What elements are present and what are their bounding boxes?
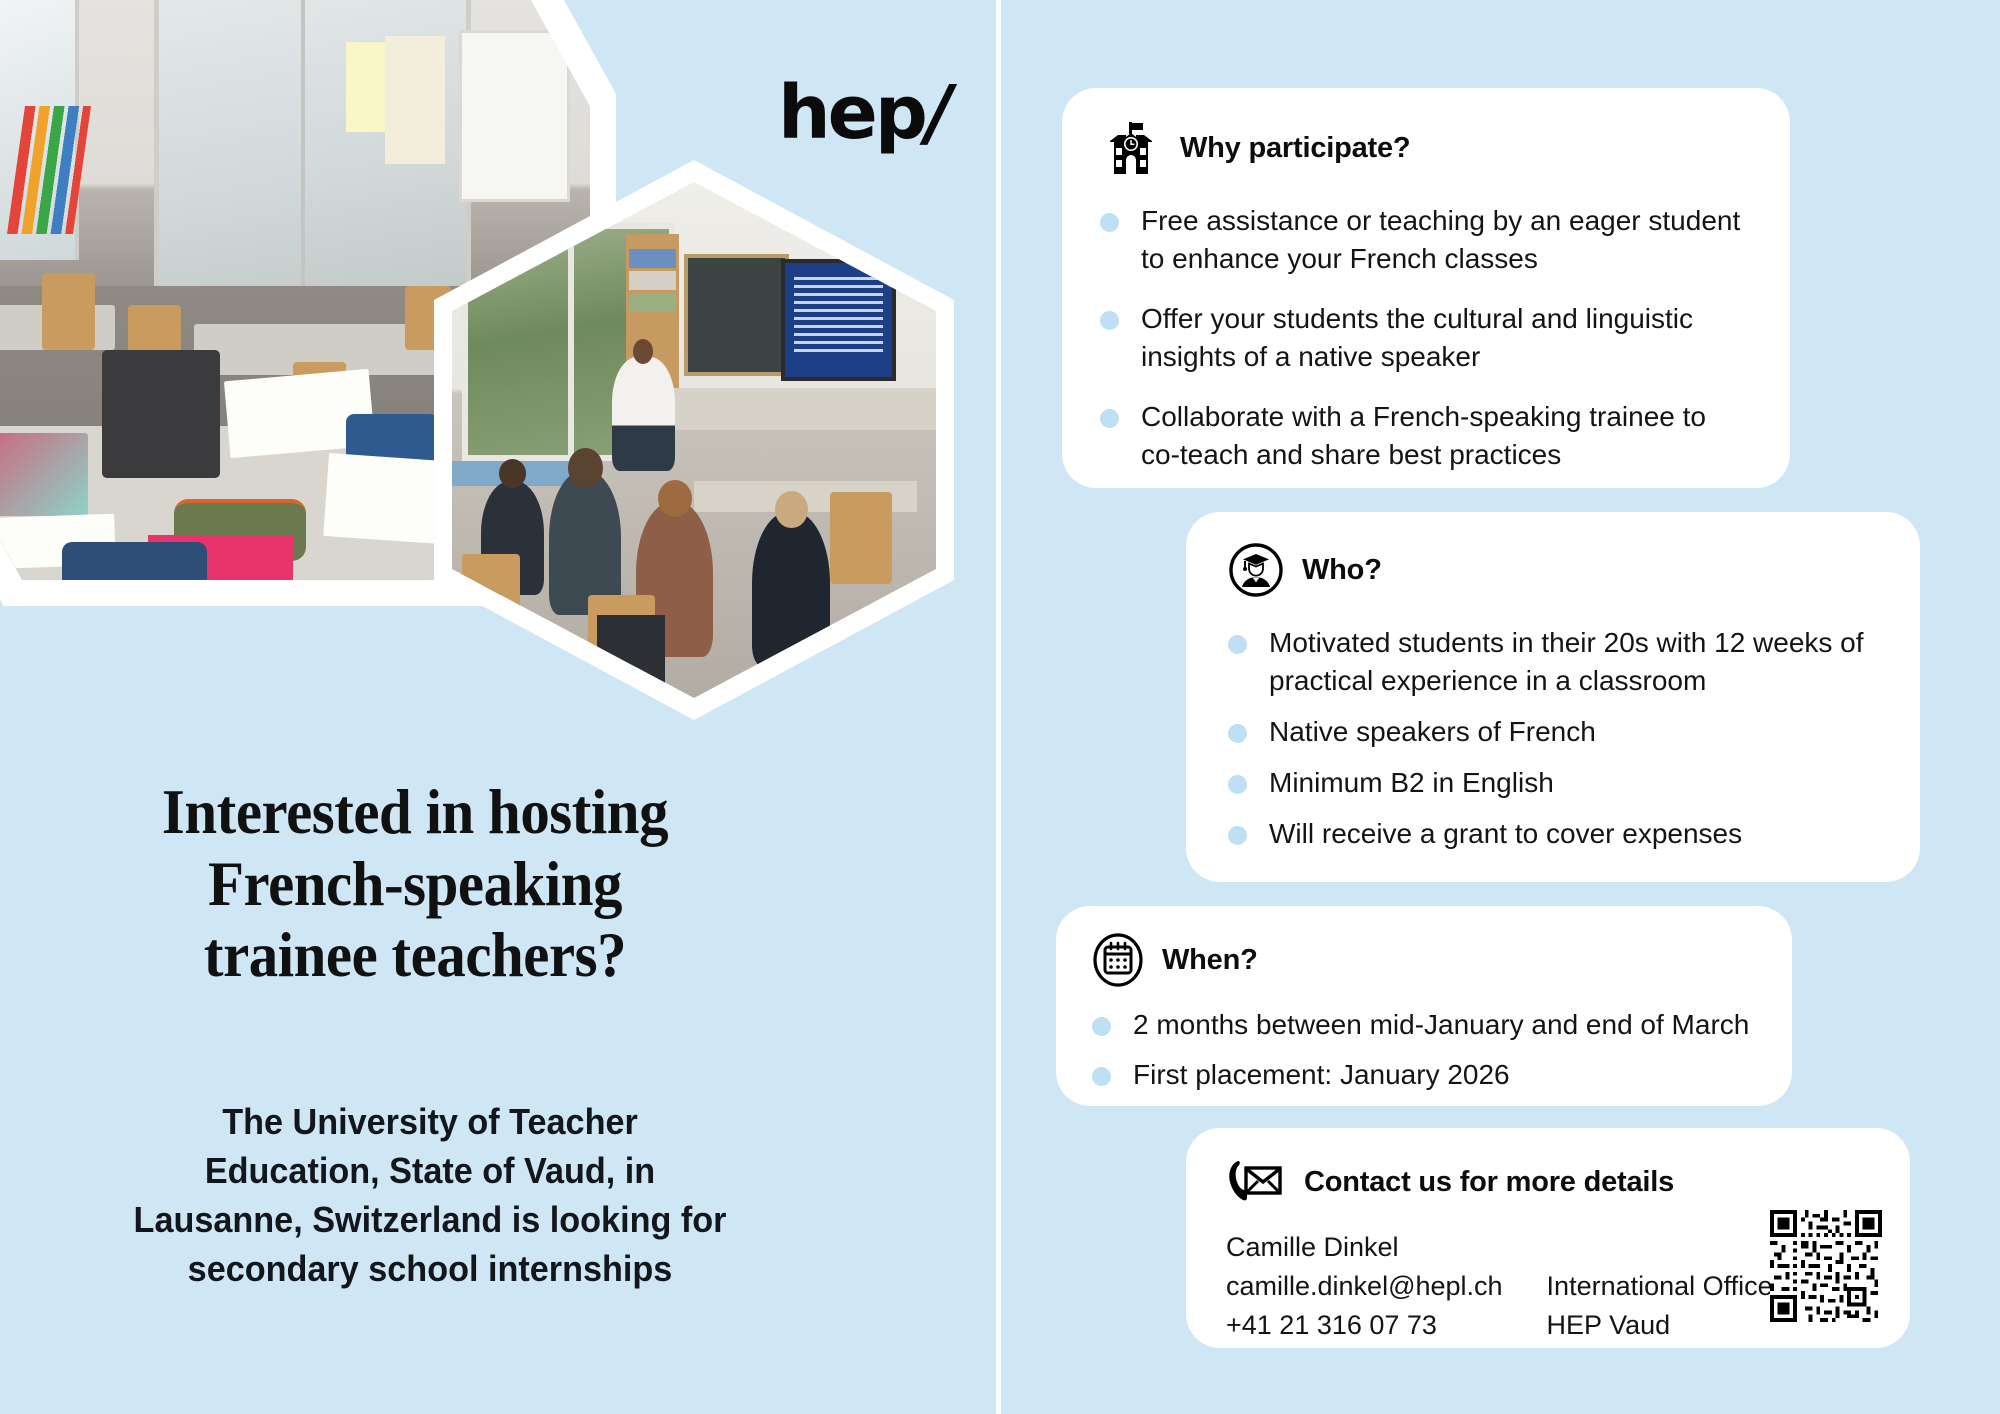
list-item: Minimum B2 in English [1228, 764, 1880, 802]
list-item: Motivated students in their 20s with 12 … [1228, 624, 1880, 700]
subhead-line-3: Lausanne, Switzerland is looking for [98, 1196, 763, 1245]
why-bullet-3: Collaborate with a French-speaking train… [1141, 398, 1748, 474]
logo-wordmark: hep [778, 70, 925, 156]
list-item: Free assistance or teaching by an eager … [1100, 202, 1748, 278]
bullet-dot-icon [1092, 1017, 1111, 1036]
contact-office: International Office [1547, 1267, 1773, 1306]
bullet-dot-icon [1100, 311, 1119, 330]
hep-logo: hep/ [778, 76, 949, 150]
subhead-line-2: Education, State of Vaud, in [98, 1147, 763, 1196]
contact-title: Contact us for more details [1304, 1166, 1674, 1199]
graduate-avatar-icon [1228, 542, 1284, 598]
why-bullet-1: Free assistance or teaching by an eager … [1141, 202, 1748, 278]
why-participate-list: Free assistance or teaching by an eager … [1100, 202, 1748, 474]
when-title: When? [1162, 944, 1258, 977]
bullet-dot-icon [1100, 213, 1119, 232]
list-item: Will receive a grant to cover expenses [1228, 815, 1880, 853]
bullet-dot-icon [1228, 826, 1247, 845]
headline-line-2: French-speaking [33, 848, 797, 920]
column-divider [996, 0, 1001, 1414]
who-list: Motivated students in their 20s with 12 … [1228, 624, 1880, 853]
school-building-icon [1100, 122, 1162, 174]
subhead-line-4: secondary school internships [98, 1245, 763, 1294]
flyer-root: hep/ Interested in hosting French-speaki… [0, 0, 2000, 1414]
calendar-icon [1092, 932, 1144, 988]
why-participate-header: Why participate? [1100, 122, 1748, 174]
who-card: Who? Motivated students in their 20s wit… [1186, 512, 1920, 882]
left-column: hep/ Interested in hosting French-speaki… [0, 0, 996, 1414]
contact-phone[interactable]: +41 21 316 07 73 [1226, 1306, 1503, 1345]
page-subtitle: The University of Teacher Education, Sta… [98, 1098, 763, 1294]
page-title: Interested in hosting French-speaking tr… [33, 776, 797, 991]
contact-email[interactable]: camille.dinkel@hepl.ch [1226, 1267, 1503, 1306]
bullet-dot-icon [1100, 409, 1119, 428]
who-header: Who? [1228, 542, 1880, 598]
bullet-dot-icon [1228, 775, 1247, 794]
when-card: When? 2 months between mid-January and e… [1056, 906, 1792, 1106]
who-bullet-3: Minimum B2 in English [1269, 764, 1554, 802]
contact-person-name: Camille Dinkel [1226, 1228, 1503, 1267]
headline-line-1: Interested in hosting [33, 776, 797, 848]
when-bullet-2: First placement: January 2026 [1133, 1056, 1510, 1094]
who-title: Who? [1302, 554, 1382, 587]
qr-code[interactable] [1770, 1210, 1882, 1322]
who-bullet-2: Native speakers of French [1269, 713, 1596, 751]
list-item: Offer your students the cultural and lin… [1100, 300, 1748, 376]
why-participate-title: Why participate? [1180, 132, 1410, 165]
phone-envelope-icon [1226, 1158, 1286, 1206]
contact-office-column: International Office HEP Vaud [1547, 1228, 1773, 1345]
list-item: Native speakers of French [1228, 713, 1880, 751]
why-bullet-2: Offer your students the cultural and lin… [1141, 300, 1748, 376]
why-participate-card: Why participate? Free assistance or teac… [1062, 88, 1790, 488]
contact-card: Contact us for more details Camille Dink… [1186, 1128, 1910, 1348]
when-header: When? [1092, 932, 1752, 988]
who-bullet-1: Motivated students in their 20s with 12 … [1269, 624, 1880, 700]
contact-organisation: HEP Vaud [1547, 1306, 1773, 1345]
bullet-dot-icon [1228, 724, 1247, 743]
list-item: 2 months between mid-January and end of … [1092, 1006, 1752, 1044]
list-item: Collaborate with a French-speaking train… [1100, 398, 1748, 474]
when-list: 2 months between mid-January and end of … [1092, 1006, 1752, 1094]
headline-line-3: trainee teachers? [33, 919, 797, 991]
subhead-line-1: The University of Teacher [98, 1098, 763, 1147]
contact-header: Contact us for more details [1226, 1158, 1870, 1206]
bullet-dot-icon [1092, 1067, 1111, 1086]
bullet-dot-icon [1228, 635, 1247, 654]
contact-person-column: Camille Dinkel camille.dinkel@hepl.ch +4… [1226, 1228, 1503, 1345]
who-bullet-4: Will receive a grant to cover expenses [1269, 815, 1742, 853]
list-item: First placement: January 2026 [1092, 1056, 1752, 1094]
when-bullet-1: 2 months between mid-January and end of … [1133, 1006, 1749, 1044]
